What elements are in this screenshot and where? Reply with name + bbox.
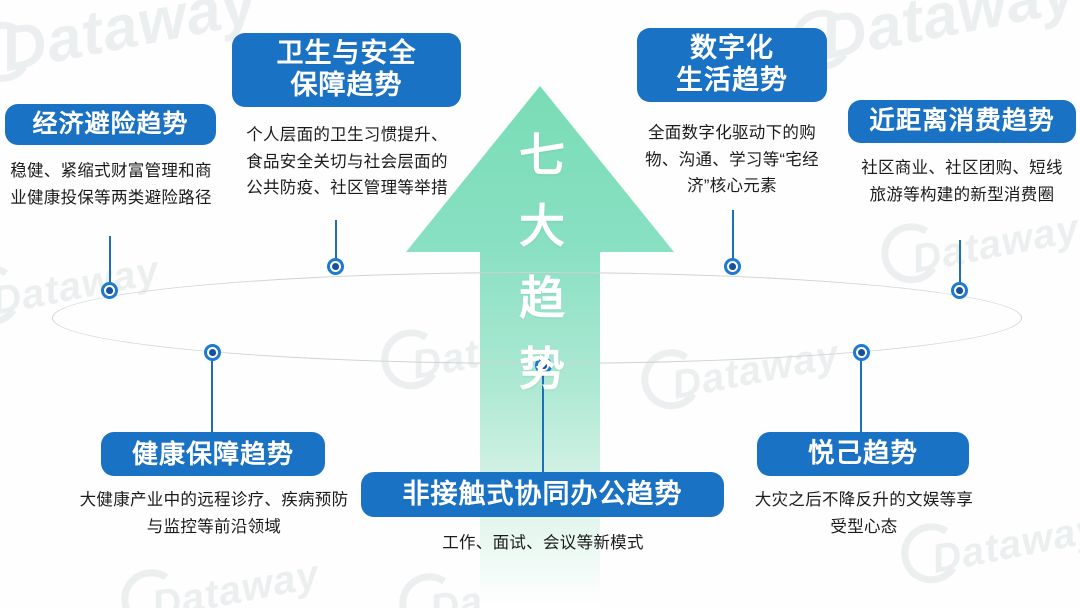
infographic-canvas: Dataway Dataway Dataway Dataway Dataway … [0,0,1080,608]
trend-description-short-distance-consumption: 社区商业、社区团购、短线旅游等构建的新型消费圈 [853,155,1071,208]
trend-badge-line: 非接触式协同办公趋势 [403,479,683,511]
trend-badge-short-distance-consumption[interactable]: 近距离消费趋势 [848,100,1076,143]
trend-badge-line: 卫生与安全 [277,38,417,70]
connector-dot-digital-life [724,258,741,275]
trend-badge-line: 经济避险趋势 [32,110,188,140]
trend-badge-line: 生活趋势 [676,65,788,97]
trend-badge-digital-life[interactable]: 数字化 生活趋势 [637,28,827,102]
connector-dot-health-security [204,344,221,361]
trend-badge-line: 保障趋势 [291,70,403,102]
connector-dot-self-pleasing [853,344,870,361]
trend-badge-line: 近距离消费趋势 [869,106,1055,136]
connector-line-self-pleasing [860,356,862,434]
center-title-char: 趋 [509,263,575,334]
trend-badge-health-security[interactable]: 健康保障趋势 [101,432,325,476]
trend-description-digital-life: 全面数字化驱动下的购物、沟通、学习等“宅经济”核心元素 [634,120,830,200]
trend-description-self-pleasing: 大灾之后不降反升的文娱等享受型心态 [752,487,976,540]
center-title-char: 大 [509,191,575,262]
watermark-dataway: Dataway [786,0,1080,80]
connector-dot-economic-risk-aversion [101,282,118,299]
center-title-char: 七 [509,120,575,191]
center-title: 七 大 趋 势 [509,120,575,405]
center-title-char: 势 [509,334,575,405]
watermark-dataway: Dataway [116,538,323,608]
trend-badge-self-pleasing[interactable]: 悦己趋势 [757,432,969,476]
trend-description-health-security: 大健康产业中的远程诊疗、疾病预防与监控等前沿领域 [78,487,350,540]
connector-dot-short-distance-consumption [951,282,968,299]
watermark-dataway: Dataway [0,0,263,92]
trend-badge-contactless-collaborative-office[interactable]: 非接触式协同办公趋势 [361,472,724,517]
trend-description-contactless-collaborative-office: 工作、面试、会议等新模式 [400,530,686,557]
connector-dot-health-safety-guarantee [327,258,344,275]
connector-line-health-security [211,356,213,434]
trend-badge-line: 数字化 [690,33,774,65]
trend-description-health-safety-guarantee: 个人层面的卫生习惯提升、食品安全关切与社会层面的公共防疫、社区管理等举措 [238,122,456,202]
trend-badge-line: 悦己趋势 [808,438,918,469]
trend-badge-health-safety-guarantee[interactable]: 卫生与安全 保障趋势 [232,33,461,107]
trend-description-economic-risk-aversion: 稳健、紧缩式财富管理和商业健康投保等两类避险路径 [4,158,218,211]
trend-badge-economic-risk-aversion[interactable]: 经济避险趋势 [5,104,216,145]
trend-badge-line: 健康保障趋势 [132,439,294,470]
